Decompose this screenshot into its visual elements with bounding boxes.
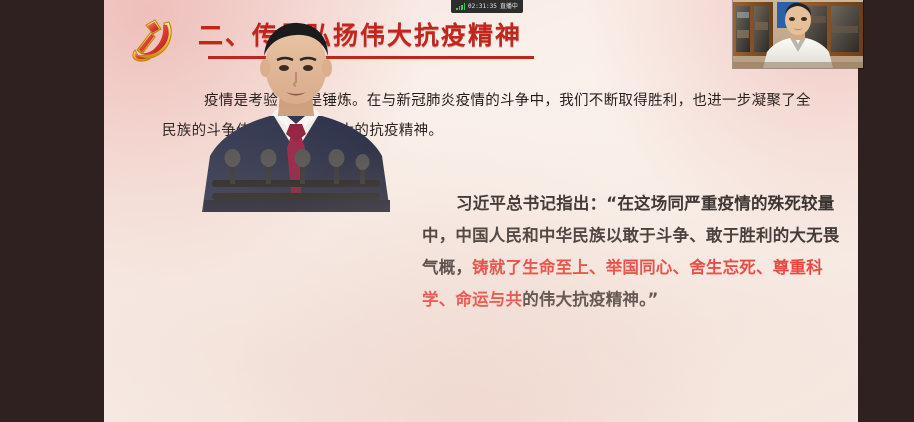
signal-bars-icon	[456, 3, 465, 10]
presenter-webcam-feed[interactable]	[733, 0, 863, 68]
speaker-at-podium-photo	[174, 12, 418, 212]
live-timer: 02:31:35	[468, 4, 497, 10]
live-status-badge: 02:31:35 直播中	[451, 0, 523, 13]
quote-block: 习近平总书记指出：“在这场同严重疫情的殊死较量中，中国人民和中华民族以敢于斗争、…	[422, 188, 842, 316]
quote-tail: 的伟大抗疫精神。”	[522, 290, 658, 309]
live-stream-player: 二、传承弘扬伟大抗疫精神 疫情是考验，也是锤炼。在与新冠肺炎疫情的斗争中，我们不…	[0, 0, 914, 422]
live-state-label: 直播中	[500, 4, 518, 10]
